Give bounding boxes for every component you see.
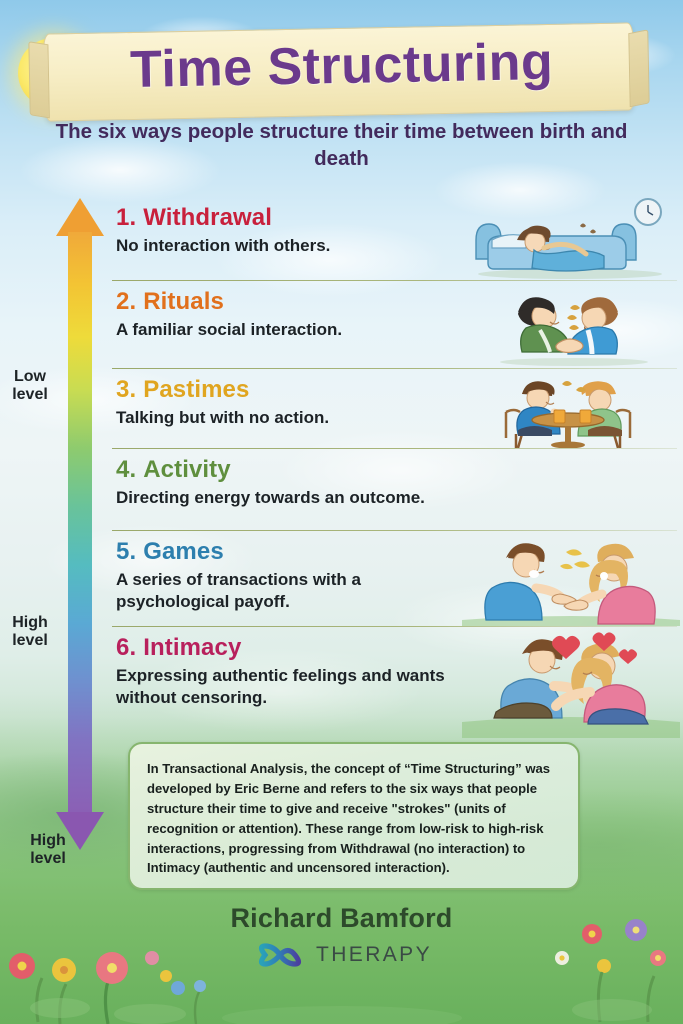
scale-label-bottom: High level <box>18 832 78 868</box>
arrow-shaft <box>68 232 92 816</box>
footnote-box: In Transactional Analysis, the concept o… <box>128 742 580 890</box>
item-illustration-rituals <box>462 280 683 373</box>
item-name: Rituals <box>143 288 224 315</box>
item-name: Games <box>143 538 224 565</box>
scale-label-bottom-line1: High <box>18 832 78 850</box>
item-heading: 2.Rituals <box>116 289 462 315</box>
item-description: No interaction with others. <box>116 235 462 257</box>
scale-label-mid: High level <box>0 614 60 650</box>
item-heading: 3.Pastimes <box>116 377 462 403</box>
brand-lockup: THERAPY <box>0 940 683 970</box>
item-heading: 6.Intimacy <box>116 635 462 661</box>
list-item[interactable]: 5.Games A series of transactions with a … <box>110 530 683 626</box>
item-name: Intimacy <box>143 634 241 661</box>
brand-word: THERAPY <box>316 943 432 967</box>
item-number: 5. <box>116 538 136 565</box>
item-description: Talking but with no action. <box>116 407 462 429</box>
list-item[interactable]: 6.Intimacy Expressing authentic feelings… <box>110 626 683 738</box>
item-number: 1. <box>116 204 136 231</box>
item-description: Expressing authentic feelings and wants … <box>116 665 462 709</box>
item-illustration-games <box>462 530 683 631</box>
scale-label-mid-line2: level <box>0 632 60 650</box>
item-name: Pastimes <box>143 376 249 403</box>
item-illustration-activity <box>462 448 683 535</box>
scale-label-low-line1: Low <box>0 368 60 386</box>
scale-label-low-line2: level <box>0 386 60 404</box>
item-illustration-withdrawal <box>462 196 683 285</box>
infinity-icon <box>251 940 309 970</box>
list-item[interactable]: 3.Pastimes Talking but with no action. <box>110 368 683 448</box>
scale-label-low: Low level <box>0 368 60 404</box>
scale-label-mid-line1: High <box>0 614 60 632</box>
item-number: 6. <box>116 634 136 661</box>
item-number: 4. <box>116 456 136 483</box>
arrow-head-up-icon <box>56 198 104 236</box>
item-name: Withdrawal <box>143 204 272 231</box>
item-number: 2. <box>116 288 136 315</box>
poster-canvas: Time Structuring The six ways people str… <box>0 0 683 1024</box>
scale-label-bottom-line2: level <box>18 850 78 868</box>
item-number: 3. <box>116 376 136 403</box>
list-item[interactable]: 2.Rituals A familiar social interaction. <box>110 280 683 368</box>
page-subtitle: The six ways people structure their time… <box>0 118 683 172</box>
item-heading: 4.Activity <box>116 457 462 483</box>
item-description: A familiar social interaction. <box>116 319 462 341</box>
item-illustration-intimacy <box>462 626 683 743</box>
item-description: A series of transactions with a psycholo… <box>116 569 462 613</box>
list-item[interactable]: 4.Activity Directing energy towards an o… <box>110 448 683 530</box>
risk-level-arrow <box>56 198 104 850</box>
author-name: Richard Bamford <box>0 903 683 934</box>
page-title: Time Structuring <box>0 17 683 98</box>
item-heading: 1.Withdrawal <box>116 205 462 231</box>
list-item[interactable]: 1.Withdrawal No interaction with others. <box>110 196 683 280</box>
item-name: Activity <box>143 456 231 483</box>
time-structuring-list: 1.Withdrawal No interaction with others. <box>110 196 683 738</box>
footnote-text: In Transactional Analysis, the concept o… <box>147 759 561 878</box>
item-description: Directing energy towards an outcome. <box>116 487 462 509</box>
item-heading: 5.Games <box>116 539 462 565</box>
item-illustration-pastimes <box>462 368 683 453</box>
